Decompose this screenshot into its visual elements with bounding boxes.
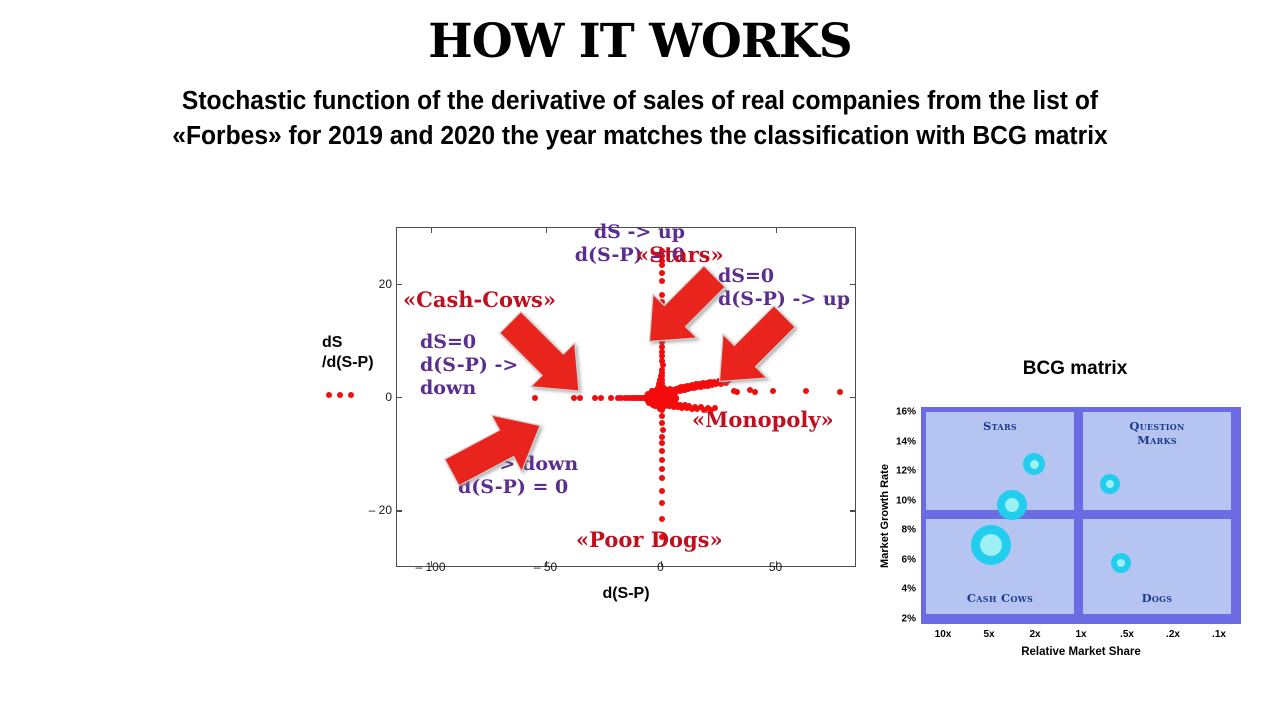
scatter-point	[659, 413, 665, 419]
label-monopoly: «Monopoly»	[692, 407, 834, 433]
bubble-cash-cows	[971, 525, 1011, 565]
scatter-y-tick	[396, 397, 402, 398]
scatter-point	[659, 516, 665, 522]
bubble-stars-large	[997, 490, 1027, 520]
scatter-point	[658, 373, 664, 379]
bcg-quadrant-label-question-marks-line1: Question	[1083, 420, 1231, 434]
scatter-point	[348, 392, 354, 398]
label-cash-cows: «Cash-Cows»	[403, 287, 556, 313]
scatter-point	[659, 500, 665, 506]
scatter-point	[659, 466, 665, 472]
scatter-x-tick	[431, 227, 432, 233]
scatter-y-tick	[396, 510, 402, 511]
scatter-point	[659, 440, 665, 446]
scatter-y-tick	[850, 510, 856, 511]
bcg-quadrant-label-dogs: Dogs	[1083, 592, 1231, 606]
scatter-y-tick-label: 20	[379, 277, 392, 291]
bcg-y-tick-label: 14%	[896, 436, 916, 447]
bcg-x-tick-label: 5x	[983, 629, 994, 640]
bcg-y-tick-label: 8%	[902, 525, 916, 536]
bcg-matrix-plot: Stars Question Marks Cash Cows Dogs 16%1…	[921, 407, 1241, 624]
scatter-point	[659, 434, 665, 440]
subtitle-line-2: «Forbes» for 2019 and 2020 the year matc…	[40, 119, 1240, 154]
bcg-quadrant-label-cash-cows: Cash Cows	[926, 592, 1074, 606]
bcg-x-tick-label: 2x	[1029, 629, 1040, 640]
scatter-x-axis-label: d(S-P)	[396, 585, 856, 603]
bcg-x-tick-label: 1x	[1075, 629, 1086, 640]
bcg-x-tick-label: .2x	[1166, 629, 1180, 640]
scatter-y-axis-label: dS /d(S-P)	[322, 333, 394, 373]
annotation-stars-formula-line1: dS -> up	[525, 221, 685, 244]
arrow-monopoly	[700, 303, 805, 395]
arrow-cash-cows	[490, 310, 600, 405]
subtitle-line-1: Stochastic function of the derivative of…	[40, 84, 1240, 119]
scatter-x-tick-label: – 50	[534, 560, 557, 574]
bubble-stars-small	[1023, 453, 1045, 475]
scatter-point	[660, 427, 666, 433]
bcg-quadrant-question-marks: Question Marks	[1083, 412, 1231, 510]
scatter-point	[659, 448, 665, 454]
bcg-quadrant-label-question-marks-line2: Marks	[1083, 434, 1231, 448]
scatter-y-tick	[396, 284, 402, 285]
bcg-y-tick-label: 6%	[902, 554, 916, 565]
scatter-x-tick	[776, 227, 777, 233]
bcg-quadrant-label-stars: Stars	[926, 420, 1074, 434]
bcg-quadrant-dogs: Dogs	[1083, 519, 1231, 614]
scatter-point	[659, 457, 665, 463]
scatter-point	[337, 392, 343, 398]
arrow-poor-dogs	[440, 401, 552, 497]
scatter-point	[659, 488, 665, 494]
scatter-clipped-markers	[324, 389, 368, 401]
scatter-y-tick-label: – 20	[369, 503, 392, 517]
bubble-dogs	[1111, 553, 1131, 573]
scatter-plot-figure: dS /d(S-P) – 100– 50050200– 20 d(S-P) dS…	[300, 215, 880, 610]
scatter-x-tick-label: 0	[657, 560, 664, 574]
label-poor-dogs: «Poor Dogs»	[576, 527, 723, 553]
bcg-x-tick-label: .1x	[1212, 629, 1226, 640]
bcg-x-tick-label: 10x	[935, 629, 952, 640]
bcg-matrix-title: BCG matrix	[875, 358, 1275, 380]
scatter-x-tick-label: 50	[769, 560, 782, 574]
bcg-y-axis-label: Market Growth Rate	[877, 407, 893, 624]
bcg-y-tick-label: 4%	[902, 584, 916, 595]
page-title: HOW IT WORKS	[0, 18, 1280, 67]
annotation-monopoly-formula-line1: dS=0	[718, 265, 850, 288]
scatter-point	[608, 395, 614, 401]
scatter-point	[660, 391, 666, 397]
scatter-point	[659, 475, 665, 481]
scatter-y-axis-label-line1: dS	[322, 333, 394, 353]
scatter-point	[837, 389, 843, 395]
bcg-x-axis-label: Relative Market Share	[921, 646, 1241, 658]
bcg-quadrant-label-question-marks: Question Marks	[1083, 420, 1231, 447]
bcg-y-tick-label: 12%	[896, 466, 916, 477]
scatter-point	[326, 392, 332, 398]
scatter-y-axis-label-line2: /d(S-P)	[322, 353, 394, 373]
bcg-matrix-figure: BCG matrix Market Growth Rate Stars Ques…	[875, 358, 1275, 668]
bubble-question-marks	[1100, 474, 1120, 494]
scatter-point	[649, 388, 655, 394]
bcg-x-tick-label: .5x	[1120, 629, 1134, 640]
scatter-y-tick	[850, 284, 856, 285]
scatter-point	[659, 420, 665, 426]
bcg-y-tick-label: 2%	[902, 614, 916, 625]
scatter-y-tick	[850, 397, 856, 398]
bcg-y-tick-label: 10%	[896, 495, 916, 506]
page-subtitle: Stochastic function of the derivative of…	[40, 84, 1240, 153]
scatter-y-tick-label: 0	[385, 390, 392, 404]
scatter-x-tick-label: – 100	[415, 560, 445, 574]
bcg-y-tick-label: 16%	[896, 407, 916, 418]
